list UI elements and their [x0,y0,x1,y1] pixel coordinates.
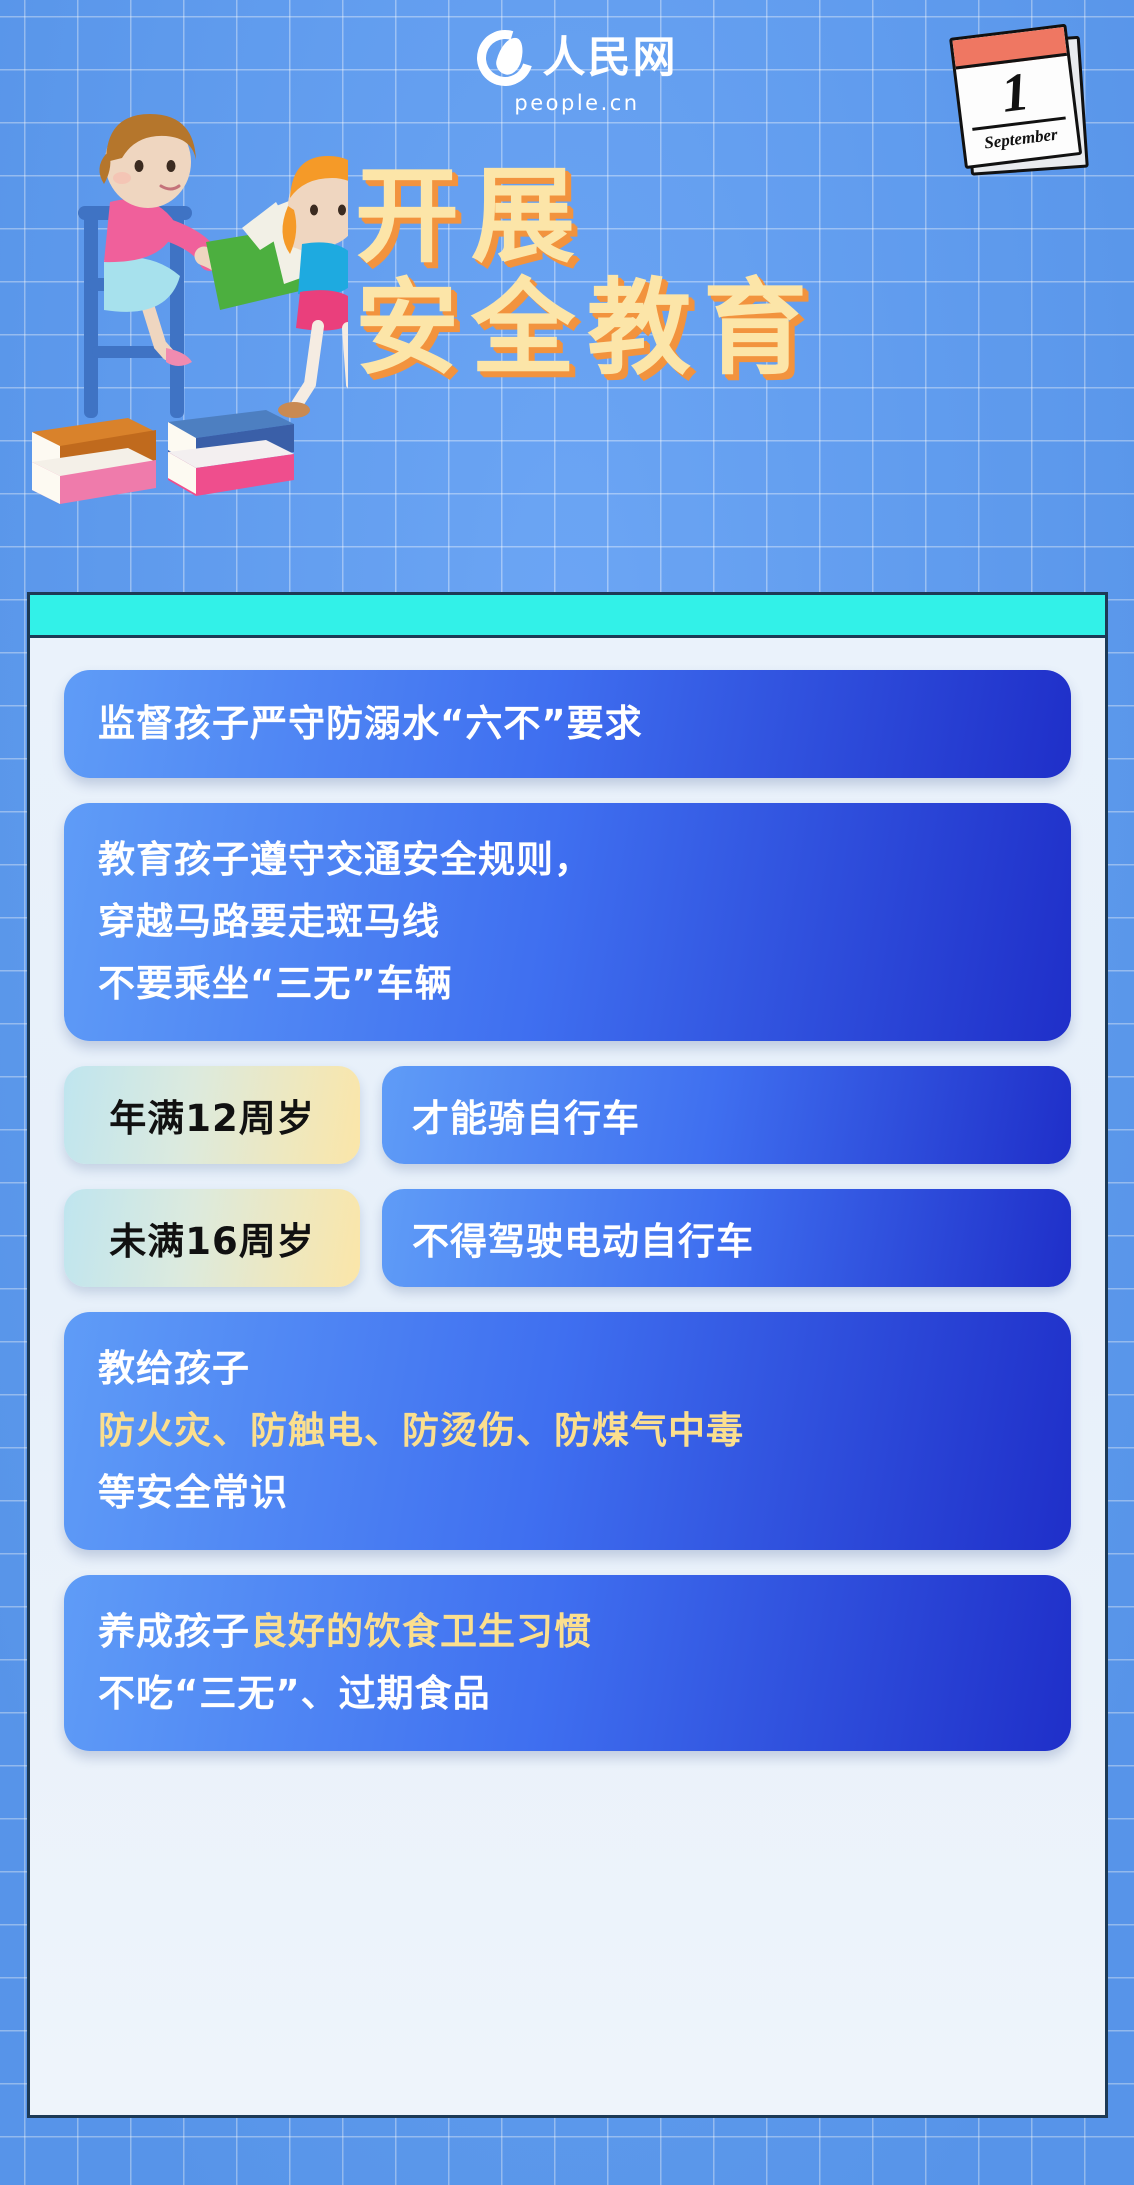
tip-card-line: 穿越马路要走斑马线 [98,891,1037,953]
people-cn-logo: 人民网 people.cn [452,30,702,126]
tip-card-line-highlight: 防火灾、防触电、防烫伤、防煤气中毒 [98,1400,1037,1462]
tip-card-food-hygiene[interactable]: 养成孩子良好的饮食卫生习惯 不吃“三无”、过期食品 [64,1575,1071,1751]
title-line-1: 开展 [355,160,819,272]
tip-card-line: 教育孩子遵守交通安全规则， [98,829,1037,891]
calendar-icon: 1 September [952,26,1090,177]
logo-domain-text: people.cn [514,91,639,115]
calendar-front-page: 1 September [949,24,1082,169]
tip-card-line: 等安全常识 [98,1462,1037,1524]
poster-root: 人民网 people.cn 1 September [0,0,1134,2185]
age-badge-16[interactable]: 未满16周岁 [64,1189,360,1287]
tip-card-line-mixed: 养成孩子良好的饮食卫生习惯 [98,1601,1037,1663]
poster-title: 开展 安全教育 [355,160,819,384]
tip-card-drowning[interactable]: 监督孩子严守防溺水“六不”要求 [64,670,1071,778]
age-badge-12[interactable]: 年满12周岁 [64,1066,360,1164]
children-reading-illustration [18,110,348,540]
logo-name-text: 人民网 [543,37,678,80]
title-line-2: 安全教育 [355,272,819,384]
tip-card-traffic[interactable]: 教育孩子遵守交通安全规则， 穿越马路要走斑马线 不要乘坐“三无”车辆 [64,803,1071,1041]
tip-card-line-plain: 养成孩子 [98,1610,250,1653]
panel-body: 监督孩子严守防溺水“六不”要求 教育孩子遵守交通安全规则， 穿越马路要走斑马线 … [30,638,1105,1806]
child-reading-left [99,114,224,366]
logo-row: 人民网 [477,30,678,86]
tip-card-line-highlight: 良好的饮食卫生习惯 [250,1610,592,1653]
rule-text-ebike[interactable]: 不得驾驶电动自行车 [382,1189,1071,1287]
tip-card-line: 不要乘坐“三无”车辆 [98,953,1037,1015]
tip-card-line: 监督孩子严守防溺水“六不”要求 [98,696,1037,752]
tip-row-ebike-age: 未满16周岁 不得驾驶电动自行车 [64,1189,1071,1287]
tip-card-home-safety[interactable]: 教给孩子 防火灾、防触电、防烫伤、防煤气中毒 等安全常识 [64,1312,1071,1550]
content-panel: 监督孩子严守防溺水“六不”要求 教育孩子遵守交通安全规则， 穿越马路要走斑马线 … [27,592,1108,2118]
panel-top-accent-bar [30,595,1105,638]
tip-card-line: 教给孩子 [98,1338,1037,1400]
stacked-books [32,410,294,504]
rule-text-bicycle[interactable]: 才能骑自行车 [382,1066,1071,1164]
tip-card-line: 不吃“三无”、过期食品 [98,1663,1037,1725]
people-logo-icon [477,30,533,86]
tip-row-bicycle-age: 年满12周岁 才能骑自行车 [64,1066,1071,1164]
